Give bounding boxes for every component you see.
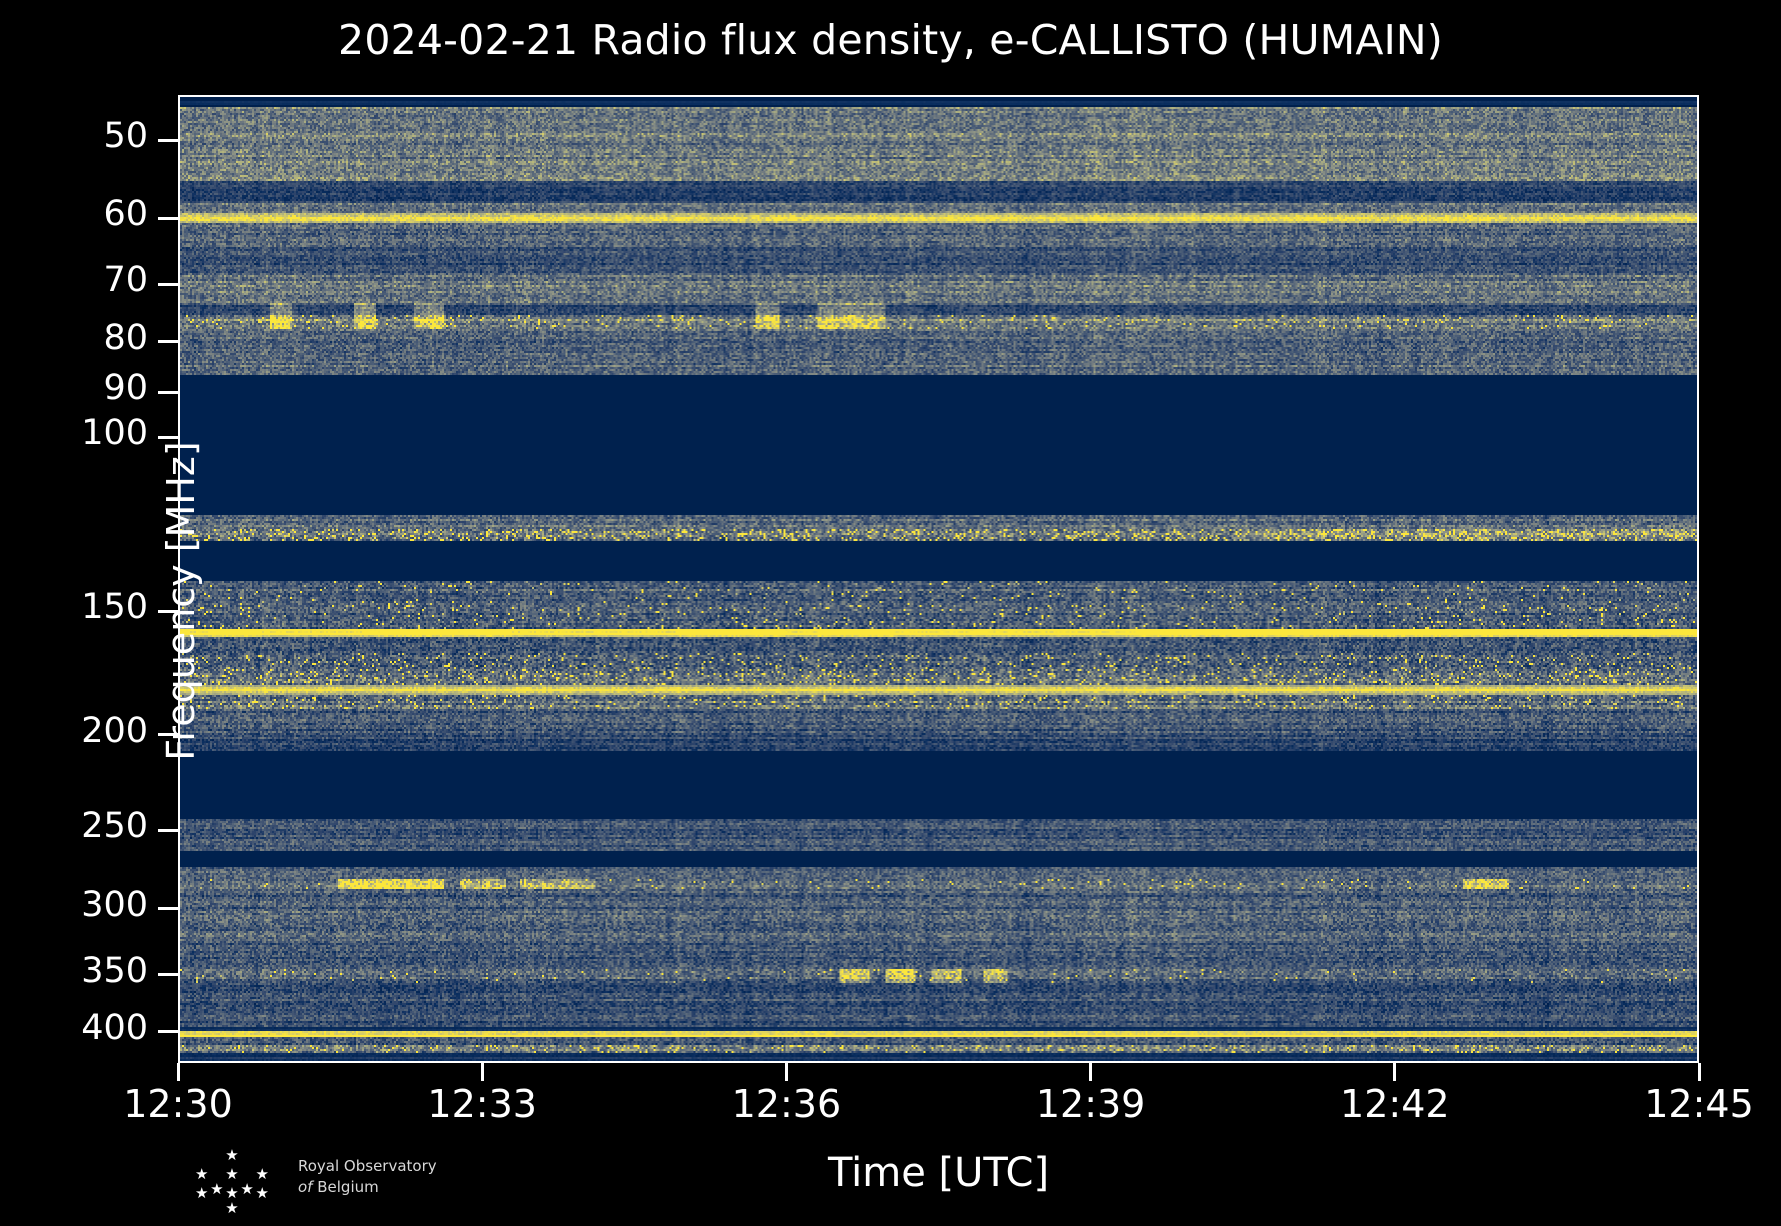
y-tick-label-80: 80 [0, 318, 148, 358]
logo-stars-icon: ★ ★ ★ ★ ★ ★ ★ ★ ★ ★ [180, 1148, 290, 1210]
x-tick-1245 [1698, 1063, 1701, 1081]
logo-line-2: of Belgium [298, 1177, 437, 1198]
y-tick-label-90: 90 [0, 368, 148, 408]
logo-line-1: Royal Observatory [298, 1156, 437, 1177]
x-tick-1242 [1393, 1063, 1396, 1081]
y-tick-300 [158, 907, 178, 910]
x-tick-label-1242: 12:42 [1340, 1082, 1450, 1126]
y-tick-50 [158, 139, 178, 142]
x-tick-label-1236: 12:36 [732, 1082, 842, 1126]
y-tick-250 [158, 829, 178, 832]
logo-star-row-top: ★ [180, 1148, 290, 1163]
x-tick-label-1233: 12:33 [427, 1082, 537, 1126]
x-tick-label-1239: 12:39 [1036, 1082, 1146, 1126]
logo-of: of [298, 1178, 312, 1196]
y-tick-label-200: 200 [0, 711, 148, 751]
y-tick-label-350: 350 [0, 951, 148, 991]
y-tick-label-60: 60 [0, 194, 148, 234]
y-tick-label-50: 50 [0, 116, 148, 156]
y-tick-label-70: 70 [0, 260, 148, 300]
y-tick-80 [158, 340, 178, 343]
y-axis-label: Frequency [MHz] [159, 391, 203, 811]
x-tick-label-1245: 12:45 [1644, 1082, 1754, 1126]
figure-root: { "title": "2024-02-21 Radio flux densit… [0, 0, 1781, 1226]
logo-star-row-bottom: ★ ★ ★ ★ [180, 1186, 290, 1216]
x-tick-1236 [785, 1063, 788, 1081]
y-tick-label-250: 250 [0, 806, 148, 846]
spectrogram-plot-area [178, 95, 1699, 1063]
x-tick-1239 [1089, 1063, 1092, 1081]
royal-observatory-logo: ★ ★ ★ ★ ★ ★ ★ ★ ★ ★ Royal Observatory of… [180, 1148, 600, 1212]
logo-belgium: Belgium [317, 1178, 379, 1196]
spectrogram-canvas [178, 95, 1699, 1063]
y-tick-label-150: 150 [0, 587, 148, 627]
y-tick-label-100: 100 [0, 413, 148, 453]
y-tick-400 [158, 1030, 178, 1033]
x-tick-1233 [481, 1063, 484, 1081]
y-tick-label-400: 400 [0, 1008, 148, 1048]
y-tick-label-300: 300 [0, 885, 148, 925]
y-tick-60 [158, 217, 178, 220]
x-tick-label-1230: 12:30 [123, 1082, 233, 1126]
figure-title: 2024-02-21 Radio flux density, e-CALLIST… [0, 16, 1781, 64]
logo-text: Royal Observatory of Belgium [298, 1156, 437, 1198]
y-tick-70 [158, 283, 178, 286]
y-tick-350 [158, 973, 178, 976]
x-tick-1230 [177, 1063, 180, 1081]
